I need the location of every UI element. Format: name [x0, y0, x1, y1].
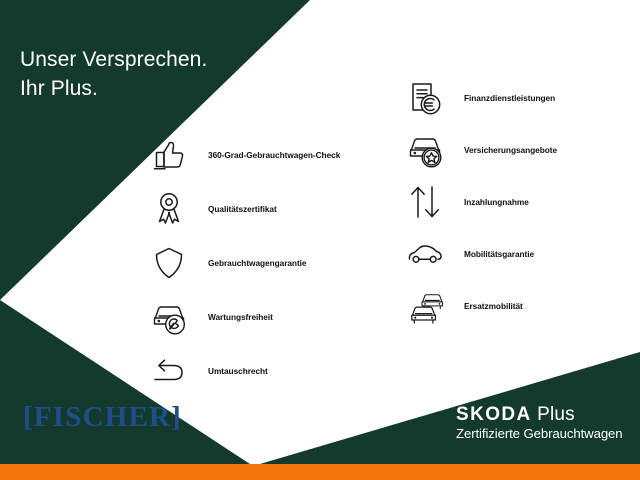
feature-label: Wartungsfreiheit: [208, 312, 273, 322]
up-down-arrows-icon: [402, 179, 448, 225]
orange-footer-bar: [0, 464, 640, 480]
headline-line-2: Ihr Plus.: [20, 75, 207, 104]
feature-label: 360-Grad-Gebrauchtwagen-Check: [208, 150, 340, 160]
feature-item: Ersatzmobilität: [402, 280, 637, 332]
promo-banner: Unser Versprechen. Ihr Plus. 360-Grad-Ge…: [0, 0, 640, 480]
feature-item: 360-Grad-Gebrauchtwagen-Check: [146, 128, 376, 182]
document-euro-icon: [402, 75, 448, 121]
brand-subtitle: Zertifizierte Gebrauchtwagen: [456, 426, 623, 442]
brand-mark: SKODA: [456, 404, 532, 425]
feature-label: Versicherungsangebote: [464, 145, 557, 155]
feature-label: Umtauschrecht: [208, 366, 268, 376]
feature-label: Finanzdienstleistungen: [464, 93, 555, 103]
feature-item: Wartungsfreiheit: [146, 290, 376, 344]
brand-title: SKODA Plus: [456, 405, 623, 426]
feature-item: Umtauschrecht: [146, 344, 376, 398]
feature-label: Qualitätszertifikat: [208, 204, 277, 214]
two-cars-icon: [402, 283, 448, 329]
feature-item: Mobilitätsgarantie: [402, 228, 637, 280]
feature-label: Gebrauchtwagengarantie: [208, 258, 307, 268]
sedan-side-icon: [402, 231, 448, 277]
feature-label: Mobilitätsgarantie: [464, 249, 534, 259]
page-title: Unser Versprechen. Ihr Plus.: [20, 17, 207, 133]
feature-item: Gebrauchtwagengarantie: [146, 236, 376, 290]
thumbs-up-icon: [146, 132, 192, 178]
brand-lockup: SKODA Plus Zertifizierte Gebrauchtwagen: [456, 405, 623, 442]
brand-suffix: Plus: [532, 404, 575, 425]
feature-label: Ersatzmobilität: [464, 301, 523, 311]
car-wrench-icon: [146, 294, 192, 340]
shield-icon: [146, 240, 192, 286]
feature-label: Inzahlungnahme: [464, 197, 529, 207]
dealer-logo: [FISCHER]: [23, 403, 182, 432]
feature-item: Inzahlungnahme: [402, 176, 637, 228]
u-turn-arrow-icon: [146, 348, 192, 394]
feature-item: Versicherungsangebote: [402, 124, 637, 176]
car-star-icon: [402, 127, 448, 173]
feature-list-left: 360-Grad-Gebrauchtwagen-Check Qualitätsz…: [146, 128, 376, 398]
feature-item: Finanzdienstleistungen: [402, 72, 637, 124]
feature-list-right: Finanzdienstleistungen Versicherungsange…: [402, 72, 637, 332]
award-rosette-icon: [146, 186, 192, 232]
feature-item: Qualitätszertifikat: [146, 182, 376, 236]
headline-line-1: Unser Versprechen.: [20, 48, 207, 71]
